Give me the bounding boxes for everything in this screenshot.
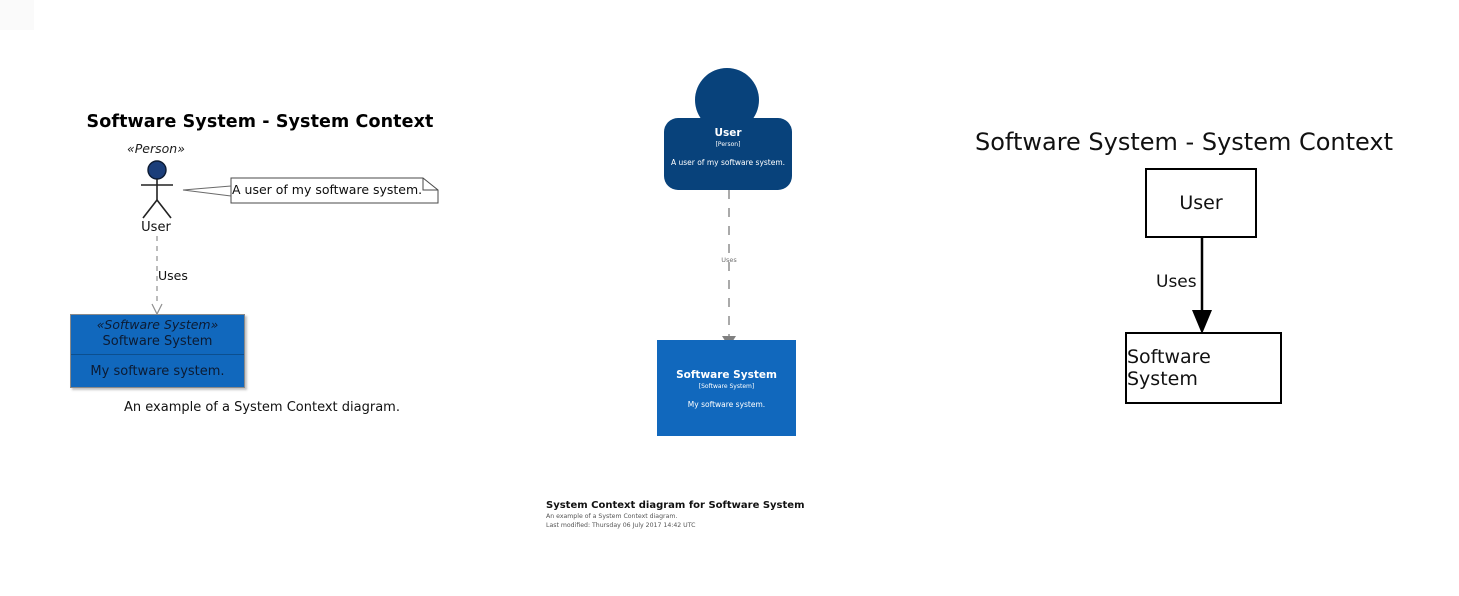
c4-software-system-name: Software System xyxy=(657,368,796,382)
actor-stick-figure-icon xyxy=(131,160,183,222)
uml-software-system-stereotype: «Software System» xyxy=(71,317,244,333)
uml-diagram-title: Software System - System Context xyxy=(0,112,520,132)
panel-plain-diagram: Software System - System Context User Us… xyxy=(960,0,1459,596)
c4-software-system-description: My software system. xyxy=(657,399,796,411)
panel-uml-diagram: Software System - System Context «Person… xyxy=(0,0,500,596)
plain-software-system-box: Software System xyxy=(1125,332,1282,404)
uml-note-text: A user of my software system. xyxy=(232,182,437,197)
uml-software-system-name: Software System xyxy=(71,333,244,350)
plain-user-box: User xyxy=(1145,168,1257,238)
c4-caption-description: An example of a System Context diagram. xyxy=(546,513,946,522)
uml-person-stereotype: «Person» xyxy=(96,141,216,156)
uml-diagram-caption: An example of a System Context diagram. xyxy=(0,400,524,415)
c4-relationship-label: Uses xyxy=(699,256,759,264)
c4-diagram-caption: System Context diagram for Software Syst… xyxy=(546,498,946,530)
plain-software-system-label: Software System xyxy=(1127,346,1280,390)
c4-person-name: User xyxy=(664,126,792,140)
c4-software-system-labels: Software System [Software System] My sof… xyxy=(657,368,796,411)
c4-person-labels: User [Person] A user of my software syst… xyxy=(664,126,792,169)
c4-software-system-type: [Software System] xyxy=(657,382,796,392)
uml-software-system-box: «Software System» Software System My sof… xyxy=(70,314,245,388)
c4-person-description: A user of my software system. xyxy=(664,157,792,169)
plain-user-label: User xyxy=(1179,192,1222,214)
c4-person-type: [Person] xyxy=(664,140,792,150)
c4-software-system-shape: Software System [Software System] My sof… xyxy=(657,340,796,436)
c4-person-shape: User [Person] A user of my software syst… xyxy=(664,68,792,190)
c4-caption-title: System Context diagram for Software Syst… xyxy=(546,498,946,513)
uml-software-system-description: My software system. xyxy=(71,355,244,388)
uml-person-name: User xyxy=(96,220,216,235)
panel-c4-diagram: User [Person] A user of my software syst… xyxy=(500,0,960,596)
uml-software-system-header: «Software System» Software System xyxy=(71,315,244,355)
plain-diagram-title: Software System - System Context xyxy=(960,128,1444,156)
plain-relationship-label: Uses xyxy=(1156,272,1197,292)
uml-relationship-label: Uses xyxy=(158,268,188,283)
c4-uses-arrow xyxy=(709,190,749,348)
c4-caption-last-modified: Last modified: Thursday 06 July 2017 14:… xyxy=(546,522,946,531)
